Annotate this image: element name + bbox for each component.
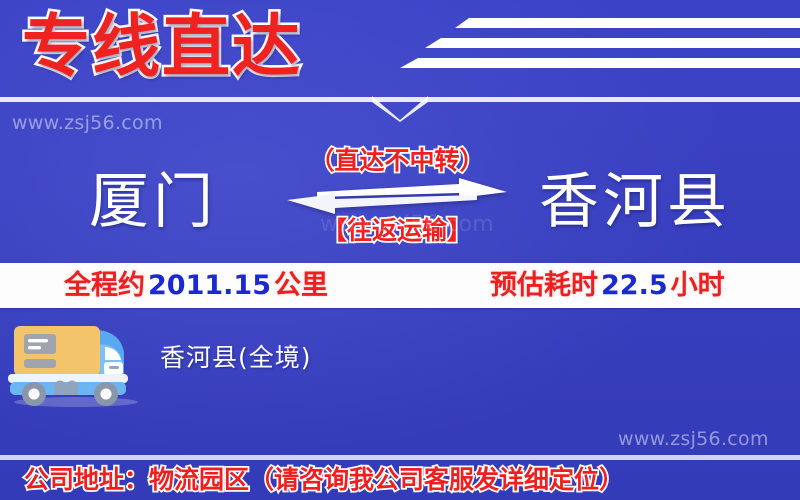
banner-footer: 公司地址：物流园区（请咨询我公司客服发详细定位） — [0, 460, 800, 500]
delivery-truck-icon — [6, 314, 146, 410]
route-note-direct: （直达不中转） — [272, 146, 522, 176]
distance-label-prefix: 全程约 — [64, 270, 145, 301]
coverage-area-label: 香河县(全境) — [160, 338, 312, 374]
route-middle: （直达不中转） 【往返运输】 — [272, 144, 522, 256]
watermark-top-left: www.zsj56.com — [12, 112, 163, 134]
stats-band: 全程约2011.15公里 预估耗时22.5小时 — [0, 263, 800, 308]
speed-stripes-icon — [370, 8, 800, 88]
distance-label-suffix: 公里 — [274, 270, 328, 301]
route-note-roundtrip: 【往返运输】 — [272, 216, 522, 246]
banner-header: 专线直达 — [0, 0, 800, 98]
total-distance: 全程约2011.15公里 — [64, 263, 328, 308]
company-address-text: 公司地址：物流园区（请咨询我公司客服发详细定位） — [24, 463, 624, 497]
bidirectional-arrow-icon — [283, 178, 511, 214]
stripe-line — [400, 58, 800, 68]
coverage-row: 香河县(全境) — [0, 312, 800, 412]
stripe-line — [425, 38, 800, 48]
duration-label-suffix: 小时 — [671, 270, 725, 301]
duration-label-prefix: 预估耗时 — [490, 270, 598, 301]
distance-value: 2011.15 — [145, 270, 274, 301]
page-title: 专线直达 — [22, 5, 302, 91]
logistics-route-banner: 专线直达 www.zsj56.com 厦门 （直达不中转） 【往返运输】 香河县 — [0, 0, 800, 500]
destination-city: 香河县 — [500, 150, 770, 254]
route-row: 厦门 （直达不中转） 【往返运输】 香河县 — [0, 150, 800, 258]
origin-city: 厦门 — [18, 150, 288, 254]
watermark-bottom-right: www.zsj56.com — [618, 428, 769, 450]
estimated-duration: 预估耗时22.5小时 — [490, 263, 725, 308]
stripe-line — [455, 18, 800, 28]
chevron-down-icon — [372, 96, 428, 122]
duration-value: 22.5 — [598, 270, 671, 301]
